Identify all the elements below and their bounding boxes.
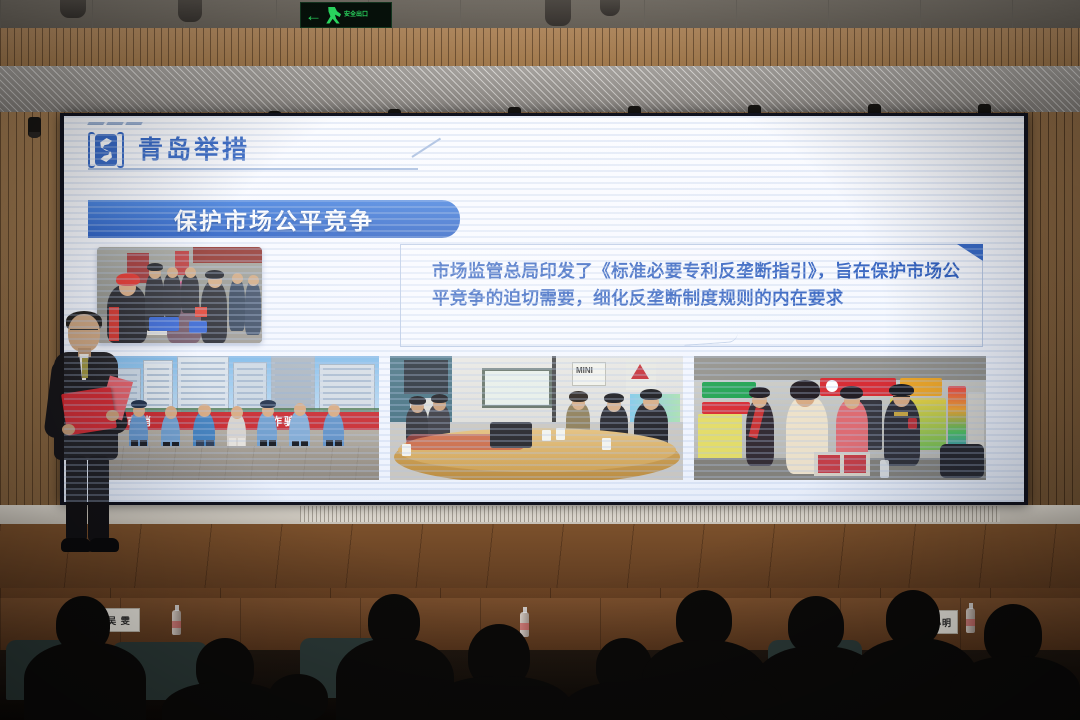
audience-head <box>268 674 328 720</box>
photo-mall-outreach <box>694 356 986 480</box>
audience-area: 吴 雯 杨小明 <box>0 560 1080 720</box>
emergency-exit-sign: ← 安全出口 <box>300 2 392 28</box>
ceiling-duct <box>600 0 620 16</box>
body-text: 市场监管总局印发了《标准必要专利反垄断指引》，旨在保护市场公平竞争的迫切需要，细… <box>432 258 972 312</box>
photo-group-banner: 青岛市消 诈骗消 <box>97 356 379 480</box>
audience-head <box>720 680 782 720</box>
water-bottle <box>966 608 975 633</box>
photo-meeting-room: MINI <box>390 356 683 480</box>
water-bottle <box>172 610 181 635</box>
ceiling-duct <box>178 0 202 22</box>
perforated-metal-soffit <box>0 66 1080 116</box>
photo-mini-label: MINI <box>576 366 593 375</box>
presenter-tie <box>82 358 88 378</box>
track-light <box>28 117 41 137</box>
running-man-icon <box>325 7 341 24</box>
audience-shoulders <box>24 642 146 720</box>
presenter-left-hand <box>62 424 75 435</box>
audience-shoulders <box>950 656 1080 720</box>
presenter-left-leg <box>66 456 87 542</box>
ceiling-duct <box>545 0 571 26</box>
header-rule-tick <box>411 138 441 158</box>
ceiling-duct <box>60 0 86 18</box>
section-banner: 保护市场公平竞争 <box>88 200 460 238</box>
exit-arrow-icon: ← <box>305 7 322 24</box>
presenter-right-shoe <box>88 538 119 552</box>
presentation-slide: 青岛举措 保护市场公平竞争 <box>64 116 1024 502</box>
presenter <box>38 314 134 562</box>
presenter-glasses-icon <box>70 329 98 335</box>
slide-header: 青岛举措 <box>88 132 250 168</box>
upper-wood-panel <box>0 28 1080 68</box>
header-dash-decor <box>88 122 142 125</box>
section-banner-label: 保护市场公平竞争 <box>174 202 374 236</box>
slide-title: 青岛举措 <box>138 138 250 163</box>
qingdao-s-emblem-icon <box>88 132 124 168</box>
exit-sign-label: 安全出口 <box>344 12 368 18</box>
lecture-hall-photo: ← 安全出口 青岛举措 保护市场公平竞争 <box>0 0 1080 720</box>
audience-head <box>984 604 1042 664</box>
presenter-right-hand <box>106 410 119 421</box>
baseboard-grille <box>300 506 1000 522</box>
ceiling-tiles <box>0 0 1080 30</box>
presenter-right-leg <box>88 456 109 542</box>
header-rule <box>88 168 418 170</box>
